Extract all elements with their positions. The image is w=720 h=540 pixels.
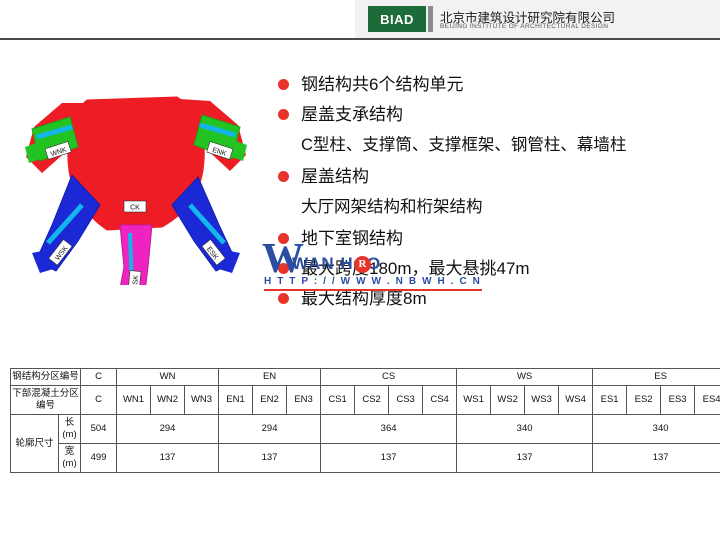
table-row-width: 宽(m) 499 137 137 137 137 137 [11, 444, 720, 473]
concrete-zone-cell: WS4 [559, 386, 593, 415]
bullet-sub-item-1: C型柱、支撑筒、支撑框架、钢管柱、幕墙柱 [301, 132, 708, 158]
header-divider [0, 38, 720, 40]
length-es: 340 [593, 415, 720, 444]
length-cs: 364 [321, 415, 457, 444]
bullet-item-2: 屋盖支承结构 [278, 102, 708, 128]
steel-zone-c: C [81, 369, 117, 386]
table-row-concrete-zone: 下部混凝土分区编号 C WN1 WN2 WN3 EN1 EN2 EN3 CS1 … [11, 386, 720, 415]
length-c: 504 [81, 415, 117, 444]
bullet-dot-icon [278, 79, 289, 90]
width-es: 137 [593, 444, 720, 473]
bullet-text-1: 钢结构共6个结构单元 [301, 72, 463, 98]
concrete-zone-cell: EN3 [287, 386, 321, 415]
bullet-dot-icon [278, 293, 289, 304]
bullet-dot-icon [278, 171, 289, 182]
page-header: BIAD 北京市建筑设计研究院有限公司 BEIJING INSTITUTE OF… [0, 0, 720, 38]
bullet-text-5: 最大跨度180m，最大悬挑47m [301, 256, 530, 282]
row-header-concrete-zone: 下部混凝土分区编号 [11, 386, 81, 415]
bullet-dot-icon [278, 233, 289, 244]
bullet-sub-text-1: C型柱、支撑筒、支撑框架、钢管柱、幕墙柱 [301, 132, 708, 158]
concrete-zone-cell: ES2 [627, 386, 661, 415]
bullet-sub-text-2: 大厅网架结构和桁架结构 [301, 194, 708, 220]
steel-zone-ws: WS [457, 369, 593, 386]
spec-table-wrapper: 钢结构分区编号 C WN EN CS WS ES 下部混凝土分区编号 C WN1… [10, 368, 710, 473]
width-cs: 137 [321, 444, 457, 473]
label-ss: SSK [132, 275, 140, 285]
concrete-zone-cell: CS2 [355, 386, 389, 415]
concrete-zone-cell: WS3 [525, 386, 559, 415]
structure-diagram-svg: CK WNK ENK WSK ESK SSK [12, 55, 262, 285]
row-header-steel-zone: 钢结构分区编号 [11, 369, 81, 386]
steel-zone-cs: CS [321, 369, 457, 386]
bullet-text-6: 最大结构厚度8m [301, 286, 427, 312]
bullet-item-5: 最大跨度180m，最大悬挑47m [278, 256, 708, 282]
company-name-en: BEIJING INSTITUTE OF ARCHITECTURAL DESIG… [440, 23, 608, 30]
concrete-zone-cell: WN1 [117, 386, 151, 415]
width-wn: 137 [117, 444, 219, 473]
logo-divider [428, 6, 433, 32]
bullet-text-4: 地下室钢结构 [301, 226, 403, 252]
bullet-text-2: 屋盖支承结构 [301, 102, 403, 128]
structure-diagram: CK WNK ENK WSK ESK SSK [12, 55, 262, 285]
bullet-sub-item-2: 大厅网架结构和桁架结构 [301, 194, 708, 220]
bullet-item-4: 地下室钢结构 [278, 226, 708, 252]
concrete-zone-cell: EN1 [219, 386, 253, 415]
row-header-width: 宽(m) [59, 444, 81, 473]
concrete-zone-cell: ES3 [661, 386, 695, 415]
steel-zone-es: ES [593, 369, 720, 386]
concrete-zone-cell: CS4 [423, 386, 457, 415]
bullet-item-3: 屋盖结构 [278, 164, 708, 190]
table-row-steel-zone: 钢结构分区编号 C WN EN CS WS ES [11, 369, 720, 386]
spec-table: 钢结构分区编号 C WN EN CS WS ES 下部混凝土分区编号 C WN1… [10, 368, 720, 473]
steel-zone-en: EN [219, 369, 321, 386]
row-header-length: 长(m) [59, 415, 81, 444]
biad-logo: BIAD [368, 6, 426, 32]
bullet-item-1: 钢结构共6个结构单元 [278, 72, 708, 98]
concrete-zone-cell: CS1 [321, 386, 355, 415]
concrete-zone-cell: WS2 [491, 386, 525, 415]
bullet-list: 钢结构共6个结构单元 屋盖支承结构 C型柱、支撑筒、支撑框架、钢管柱、幕墙柱 屋… [278, 72, 708, 316]
bullet-dot-icon [278, 263, 289, 274]
width-ws: 137 [457, 444, 593, 473]
row-header-outline: 轮廓尺寸 [11, 415, 59, 473]
concrete-zone-cell: ES4 [695, 386, 720, 415]
width-en: 137 [219, 444, 321, 473]
concrete-zone-cell: WN3 [185, 386, 219, 415]
width-c: 499 [81, 444, 117, 473]
label-center: CK [130, 205, 140, 212]
table-row-length: 轮廓尺寸 长(m) 504 294 294 364 340 340 [11, 415, 720, 444]
concrete-zone-cell: EN2 [253, 386, 287, 415]
bullet-item-6: 最大结构厚度8m [278, 286, 708, 312]
steel-zone-wn: WN [117, 369, 219, 386]
bullet-dot-icon [278, 109, 289, 120]
bullet-text-3: 屋盖结构 [301, 164, 369, 190]
concrete-zone-cell: WN2 [151, 386, 185, 415]
length-ws: 340 [457, 415, 593, 444]
concrete-zone-cell: CS3 [389, 386, 423, 415]
concrete-zone-cell: WS1 [457, 386, 491, 415]
length-en: 294 [219, 415, 321, 444]
length-wn: 294 [117, 415, 219, 444]
concrete-zone-cell: ES1 [593, 386, 627, 415]
concrete-zone-cell: C [81, 386, 117, 415]
